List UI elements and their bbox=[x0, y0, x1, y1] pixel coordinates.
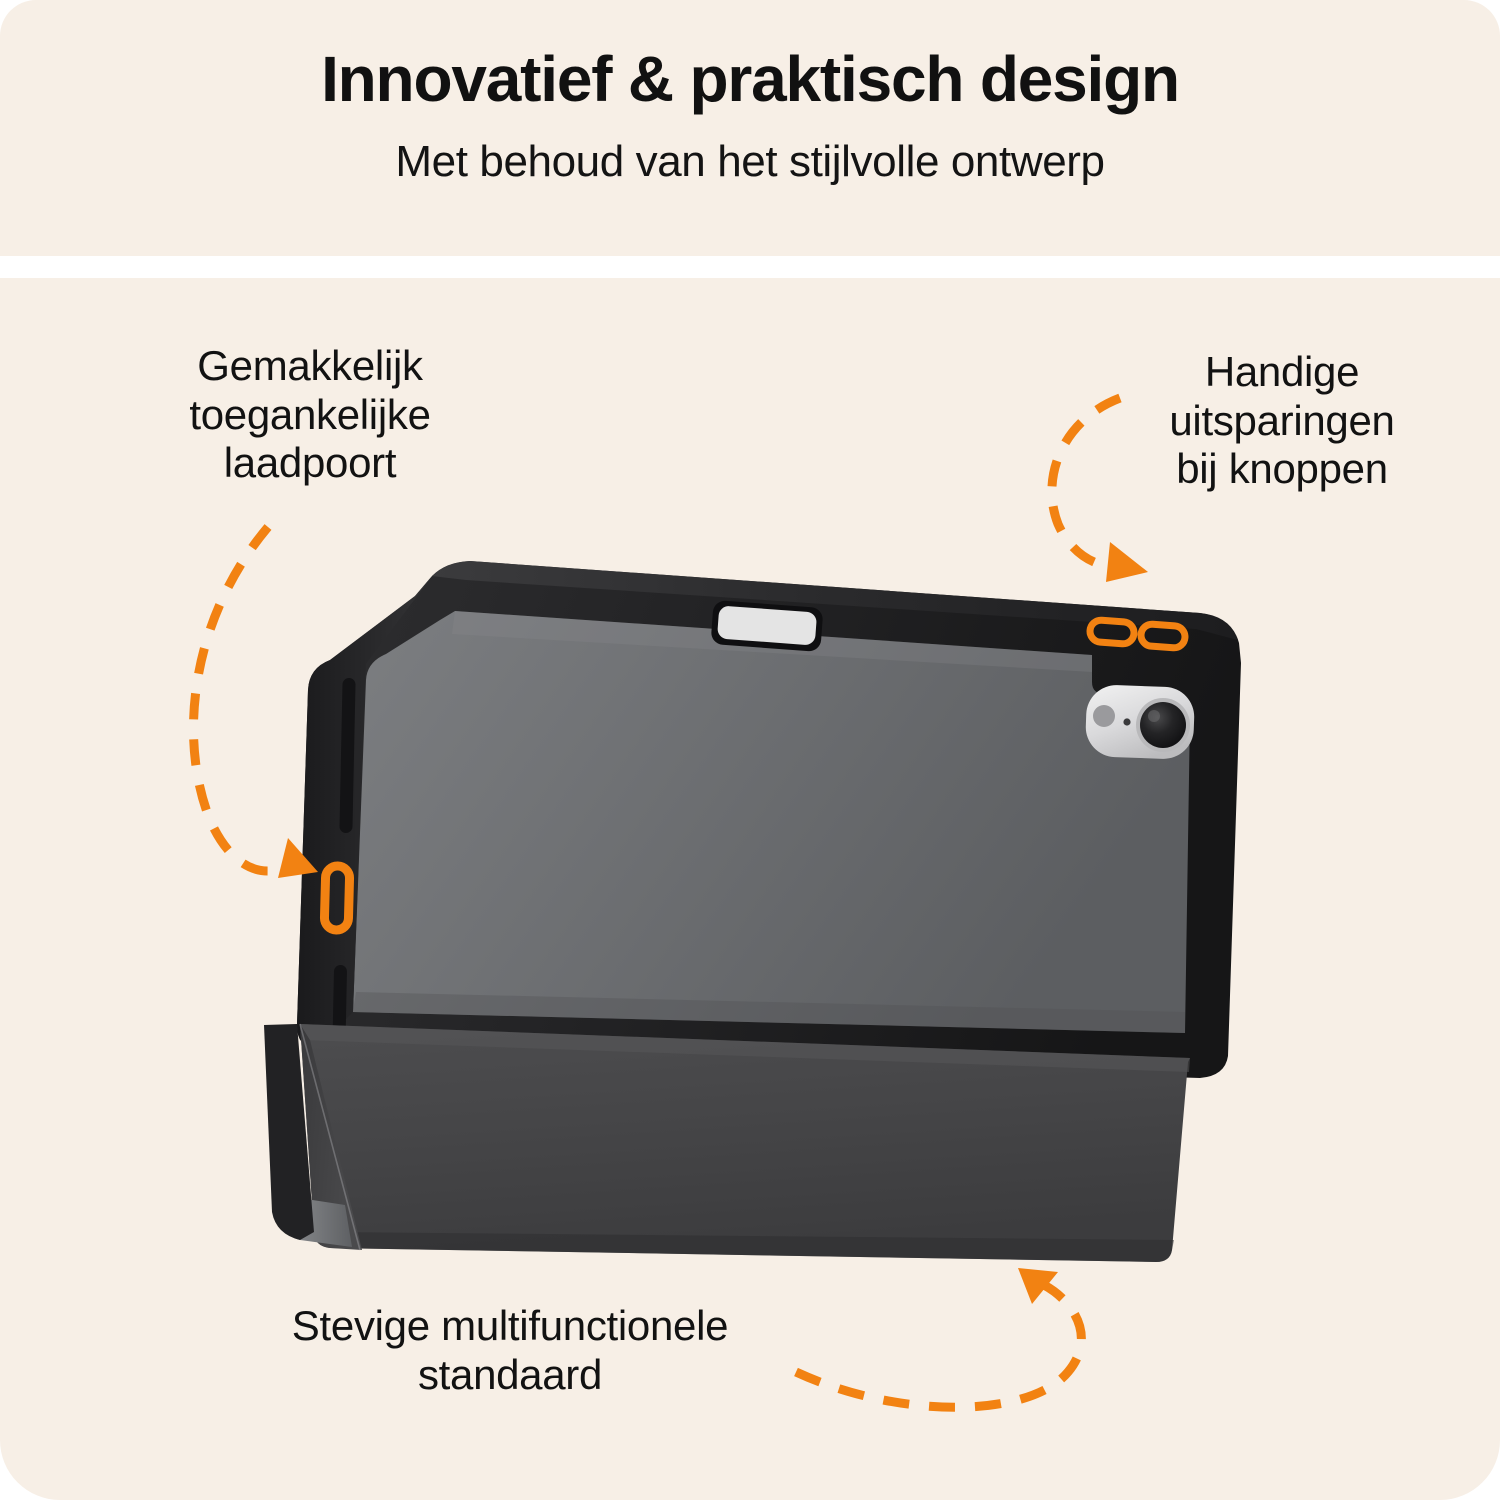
callout-line: standaard bbox=[180, 1351, 840, 1400]
callout-line: laadpoort bbox=[108, 439, 512, 488]
callout-line: toegankelijke bbox=[108, 391, 512, 440]
callout-charging-port: Gemakkelijk toegankelijke laadpoort bbox=[108, 342, 512, 488]
camera-module bbox=[1085, 684, 1195, 760]
pencil-holder-cutout bbox=[711, 600, 824, 652]
callout-line: bij knoppen bbox=[1080, 445, 1484, 494]
callout-line: Gemakkelijk bbox=[108, 342, 512, 391]
callout-line: uitsparingen bbox=[1080, 397, 1484, 446]
callout-multifunction-stand: Stevige multifunctionele standaard bbox=[180, 1302, 840, 1399]
camera-lens-icon bbox=[1140, 702, 1186, 748]
flash-icon bbox=[1093, 705, 1115, 727]
callout-button-cutouts: Handige uitsparingen bij knoppen bbox=[1080, 348, 1484, 494]
microphone-icon bbox=[1123, 718, 1130, 725]
callout-line: Handige bbox=[1080, 348, 1484, 397]
product-illustration bbox=[0, 0, 1500, 1500]
stand-front-face bbox=[300, 1024, 1190, 1262]
case-back-panel bbox=[353, 611, 1190, 1033]
callout-line: Stevige multifunctionele bbox=[180, 1302, 840, 1351]
infographic-canvas: Innovatief & praktisch design Met behoud… bbox=[0, 0, 1500, 1500]
